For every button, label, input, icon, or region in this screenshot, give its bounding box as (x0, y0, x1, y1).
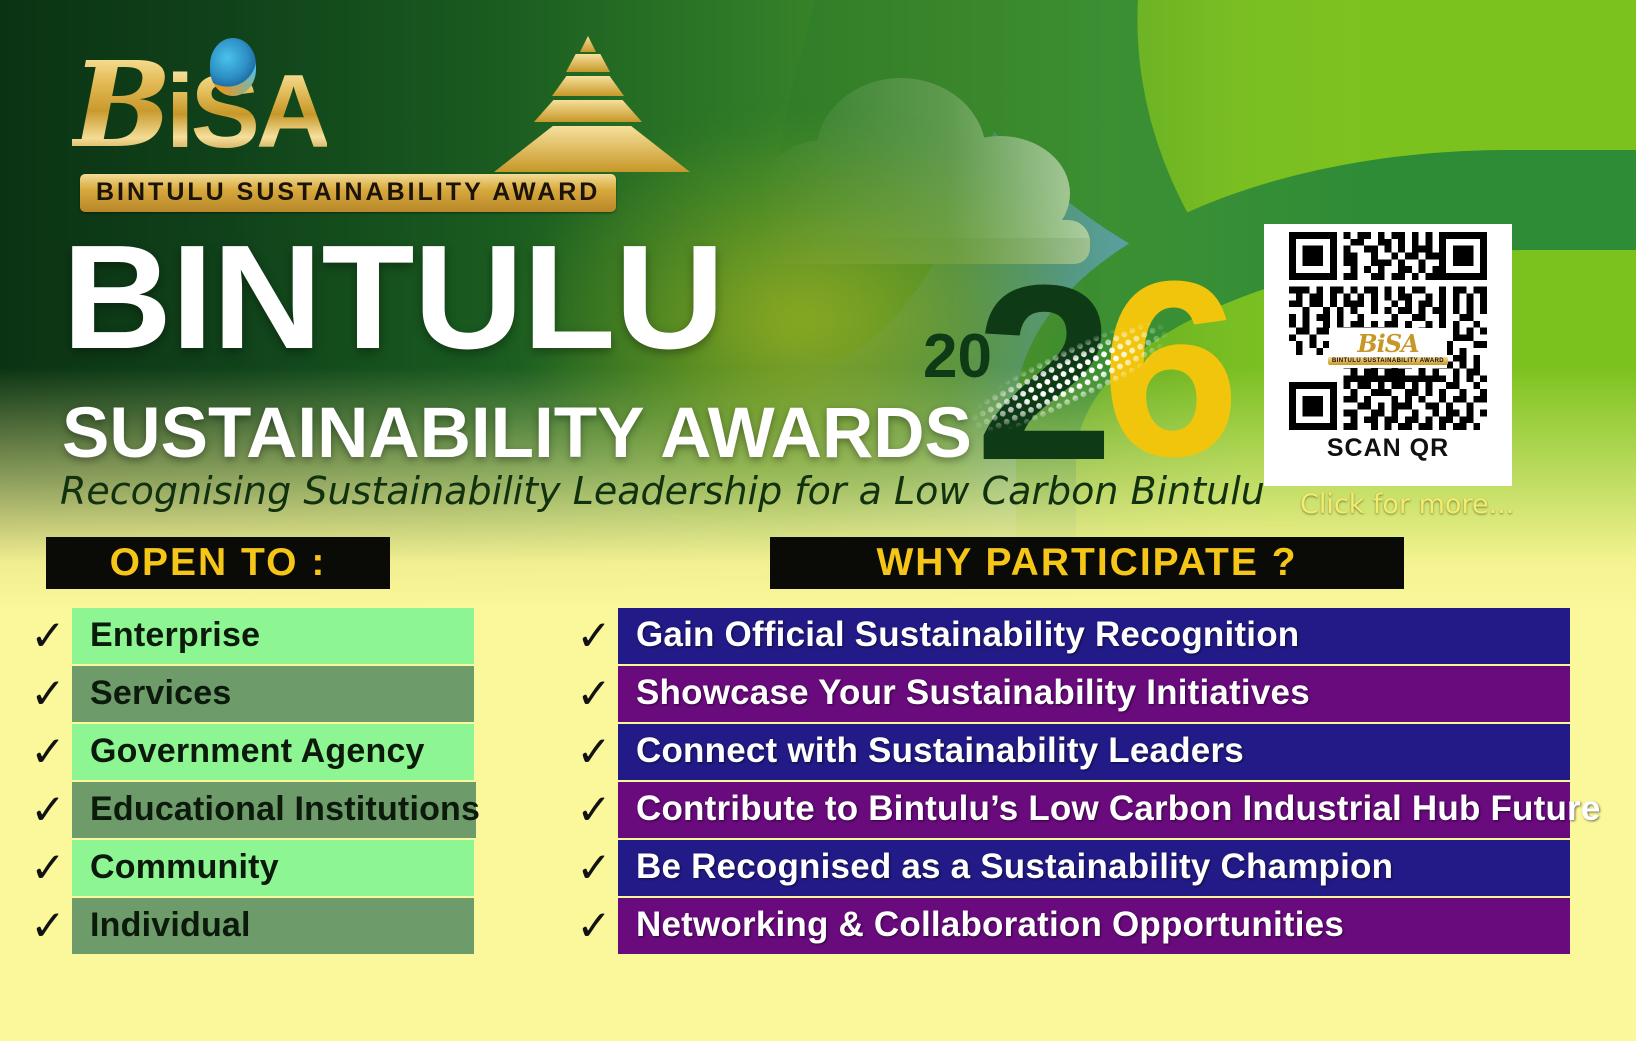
qr-center-logo-caption: BINTULU SUSTAINABILITY AWARD (1328, 357, 1448, 365)
check-icon: ✓ (24, 608, 72, 664)
year-graphic: 2 6 20 (905, 238, 1225, 498)
list-item: ✓ Services (24, 666, 474, 722)
year-digit-2: 2 (975, 248, 1114, 498)
check-icon: ✓ (24, 840, 72, 896)
list-item: ✓ Educational Institutions (24, 782, 474, 838)
logo-wordmark: B iSA (72, 24, 672, 164)
why-item-1: Showcase Your Sustainability Initiatives (618, 666, 1570, 722)
check-icon: ✓ (570, 724, 618, 780)
list-item: ✓ Showcase Your Sustainability Initiativ… (570, 666, 1570, 722)
list-item: ✓ Enterprise (24, 608, 474, 664)
logo-banner-label: BINTULU SUSTAINABILITY AWARD (96, 178, 600, 206)
list-item: ✓ Be Recognised as a Sustainability Cham… (570, 840, 1570, 896)
open-to-item-3: Educational Institutions (72, 782, 476, 838)
open-to-item-0: Enterprise (72, 608, 474, 664)
page-subtitle: SUSTAINABILITY AWARDS (62, 398, 972, 469)
click-for-more-link[interactable]: Click for more... (1300, 489, 1514, 520)
why-item-5: Networking & Collaboration Opportunities (618, 898, 1570, 954)
qr-center-logo-mark: BiSA (1357, 332, 1418, 356)
poster-root: B iSA BINTULU SUSTAINABILITY AWARD BINTU… (0, 0, 1636, 1041)
why-item-label: Networking & Collaboration Opportunities (636, 905, 1344, 945)
check-icon: ✓ (24, 782, 72, 838)
year-digit-6: 6 (1101, 244, 1240, 494)
why-item-label: Be Recognised as a Sustainability Champi… (636, 847, 1393, 887)
why-item-label: Contribute to Bintulu’s Low Carbon Indus… (636, 789, 1601, 829)
page-title: BINTULU (62, 228, 724, 369)
why-item-label: Showcase Your Sustainability Initiatives (636, 673, 1310, 713)
open-to-item-label: Government Agency (90, 732, 425, 771)
list-item: ✓ Government Agency (24, 724, 474, 780)
year-prefix-20: 20 (923, 326, 992, 388)
list-item: ✓ Gain Official Sustainability Recogniti… (570, 608, 1570, 664)
list-item: ✓ Individual (24, 898, 474, 954)
check-icon: ✓ (24, 898, 72, 954)
qr-card[interactable]: BiSA BINTULU SUSTAINABILITY AWARD SCAN Q… (1264, 224, 1512, 486)
why-item-label: Gain Official Sustainability Recognition (636, 615, 1299, 655)
logo-banner: BINTULU SUSTAINABILITY AWARD (80, 174, 616, 212)
check-icon: ✓ (24, 666, 72, 722)
why-item-4: Be Recognised as a Sustainability Champi… (618, 840, 1570, 896)
open-to-item-label: Community (90, 848, 279, 887)
check-icon: ✓ (570, 666, 618, 722)
open-to-item-5: Individual (72, 898, 474, 954)
open-to-list: ✓ Enterprise ✓ Services ✓ Government Age… (24, 608, 474, 956)
list-item: ✓ Networking & Collaboration Opportuniti… (570, 898, 1570, 954)
logo-letter-b: B (72, 46, 172, 164)
list-item: ✓ Contribute to Bintulu’s Low Carbon Ind… (570, 782, 1570, 838)
open-to-item-4: Community (72, 840, 474, 896)
check-icon: ✓ (570, 782, 618, 838)
open-to-item-label: Services (90, 674, 232, 713)
open-to-item-1: Services (72, 666, 474, 722)
why-participate-header: WHY PARTICIPATE ? (770, 537, 1404, 589)
why-item-3: Contribute to Bintulu’s Low Carbon Indus… (618, 782, 1570, 838)
why-item-label: Connect with Sustainability Leaders (636, 731, 1244, 771)
why-participate-list: ✓ Gain Official Sustainability Recogniti… (570, 608, 1570, 956)
open-to-item-label: Enterprise (90, 616, 260, 655)
open-to-header-label: OPEN TO : (110, 541, 327, 585)
why-participate-header-label: WHY PARTICIPATE ? (876, 541, 1297, 585)
check-icon: ✓ (24, 724, 72, 780)
open-to-item-label: Individual (90, 906, 251, 945)
qr-caption: SCAN QR (1327, 434, 1449, 463)
tower-icon (492, 34, 692, 174)
open-to-item-2: Government Agency (72, 724, 474, 780)
qr-center-logo: BiSA BINTULU SUSTAINABILITY AWARD (1329, 328, 1447, 368)
open-to-header: OPEN TO : (46, 537, 390, 589)
check-icon: ✓ (570, 898, 618, 954)
list-item: ✓ Connect with Sustainability Leaders (570, 724, 1570, 780)
globe-icon (210, 38, 256, 96)
why-item-2: Connect with Sustainability Leaders (618, 724, 1570, 780)
list-item: ✓ Community (24, 840, 474, 896)
open-to-item-label: Educational Institutions (90, 790, 480, 829)
why-item-0: Gain Official Sustainability Recognition (618, 608, 1570, 664)
check-icon: ✓ (570, 608, 618, 664)
check-icon: ✓ (570, 840, 618, 896)
bisa-logo: B iSA BINTULU SUSTAINABILITY AWARD (72, 24, 672, 214)
